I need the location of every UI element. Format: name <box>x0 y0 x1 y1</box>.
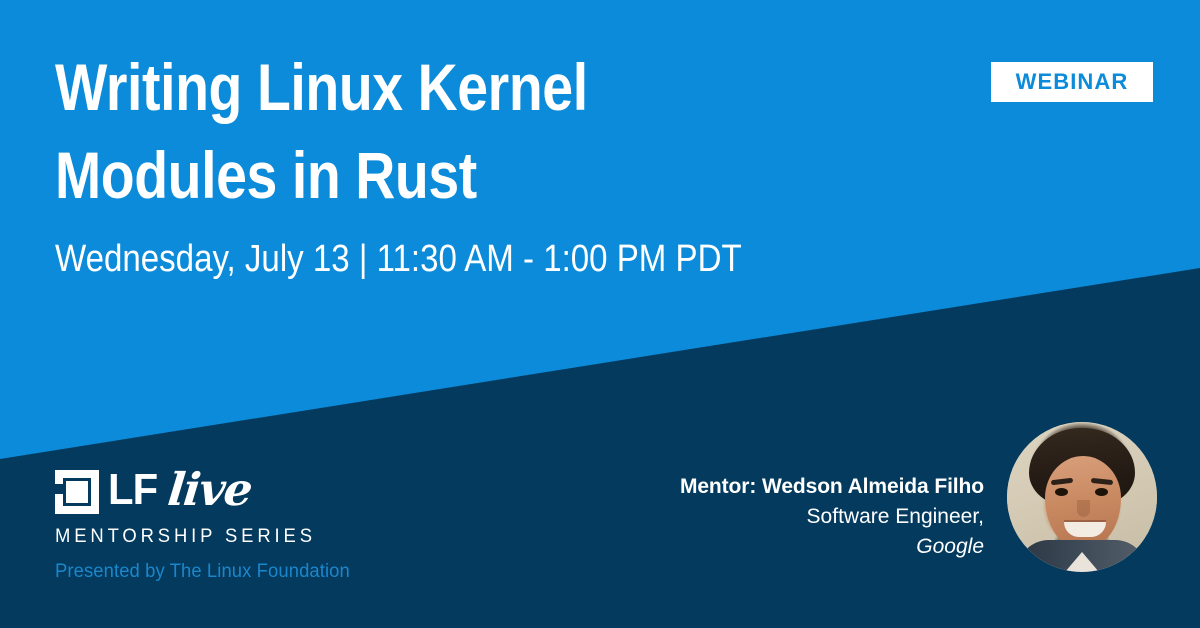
mentor-role: Software Engineer, <box>564 502 984 532</box>
webinar-badge: WEBINAR <box>991 62 1153 102</box>
live-wordmark: live <box>166 470 253 510</box>
avatar-eye-left <box>1055 488 1068 496</box>
lf-live-logo-block: LF live MENTORSHIP SERIES Presented by T… <box>55 470 359 583</box>
mentor-info: Mentor: Wedson Almeida Filho Software En… <box>564 472 984 561</box>
presented-by-label: Presented by The Linux Foundation <box>55 561 350 583</box>
avatar-eye-right <box>1095 488 1108 496</box>
event-datetime: Wednesday, July 13 | 11:30 AM - 1:00 PM … <box>55 237 742 283</box>
mentor-avatar <box>1007 422 1157 572</box>
webinar-badge-label: WEBINAR <box>1016 71 1129 93</box>
page-title: Writing Linux Kernel Modules in Rust <box>55 44 744 220</box>
avatar-nose <box>1077 500 1090 517</box>
webinar-banner: WEBINAR Writing Linux Kernel Modules in … <box>0 0 1200 628</box>
lf-bracket-icon <box>55 470 99 514</box>
mentorship-series-label: MENTORSHIP SERIES <box>55 526 350 548</box>
avatar-photo <box>1007 422 1157 572</box>
mentor-name: Mentor: Wedson Almeida Filho <box>564 472 984 502</box>
mentor-company: Google <box>564 532 984 562</box>
lf-wordmark: LF <box>108 470 157 510</box>
lf-live-logo-lockup: LF live <box>55 470 359 516</box>
